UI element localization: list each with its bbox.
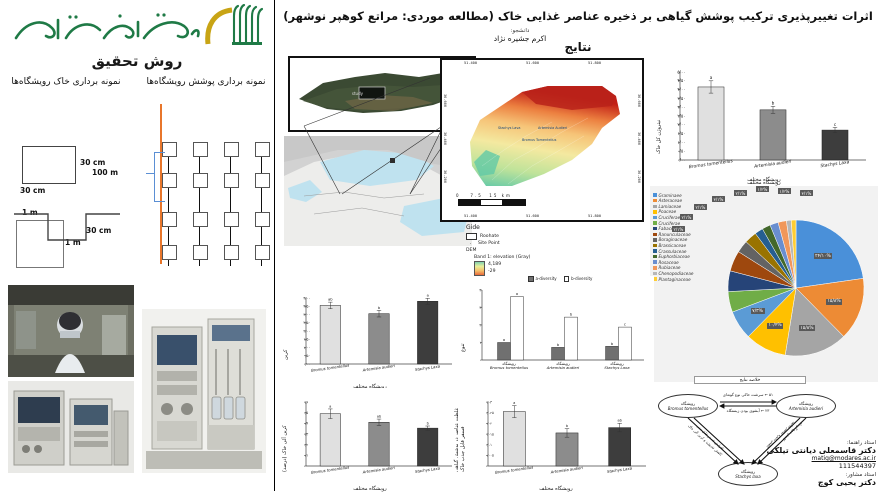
heading-cover-sampling: نمونه برداری پوشش رویشگاه‌ها <box>146 76 266 89</box>
svg-text:۴: ۴ <box>479 288 481 292</box>
consultant-name: دکتر یحیی کوچ <box>736 478 876 487</box>
pie-legend-label: Asteraceae <box>659 198 683 203</box>
titration-instrument-photo <box>142 309 266 473</box>
organic-matter-y-axis-title: کربن آلی خاک (درصد) <box>282 425 288 472</box>
dem-x-tick-b2: 51-800 <box>588 214 601 218</box>
svg-text:۲: ۲ <box>479 323 481 327</box>
pie-legend-label: Cruciferae <box>659 215 681 220</box>
svg-text:۳: ۳ <box>479 306 481 310</box>
pie-slice-value-callout: ۲/۱% <box>672 226 685 232</box>
dem-x-tick-b1: 51-600 <box>526 214 539 218</box>
svg-text:b: b <box>427 421 429 425</box>
pie-legend-label: Boraginaceae <box>659 237 688 242</box>
svg-text:۰/۰۰: ۰/۰۰ <box>677 157 685 162</box>
laboratory-photos <box>0 285 274 485</box>
venn-edge-top-1: ۲۳ ← آبشوی بودن زیستگاه <box>714 408 782 413</box>
pie-slice-value-inside: ۱۵/۸% <box>826 299 842 305</box>
pie-slice-value-inside: ۱۵/۸% <box>799 325 815 331</box>
pie-legend-swatch-icon <box>653 260 657 264</box>
pie-legend-item: Lamiaceae <box>653 204 719 209</box>
diversity-grouped-bar-chart: ۰۱۲۳۴aaرویشگاهBromus tomentellusbbرویشگا… <box>458 276 654 388</box>
svg-text:۰/۵۰: ۰/۵۰ <box>677 149 685 154</box>
svg-text:۳/۵۰: ۳/۵۰ <box>677 96 685 101</box>
pie-legend-swatch-icon <box>653 216 657 220</box>
svg-text:۰/۰۳: ۰/۰۳ <box>485 400 492 404</box>
pie-legend-swatch-icon <box>653 255 657 259</box>
diversity-legend-item: b-diversity <box>564 276 593 282</box>
pie-legend-swatch-icon <box>653 221 657 225</box>
svg-text:۱/۵۰: ۱/۵۰ <box>303 338 310 342</box>
university-emblem-icon <box>204 4 266 48</box>
pie-legend-item: Boraginaceae <box>653 237 719 242</box>
pie-legend-item: Cruciferae <box>653 221 719 226</box>
advisor-phone: 111544397 <box>736 462 876 470</box>
svg-text:۱: ۱ <box>479 341 481 345</box>
left-methodology-column: روش تحقیق نمونه برداری پوشش رویشگاه‌ها ن… <box>0 0 274 491</box>
legend-elevation-ramp: 4,189 -29 <box>474 261 586 276</box>
svg-text:۳/۵۰: ۳/۵۰ <box>303 305 310 309</box>
soil-square-side-label: 30 cm <box>80 158 105 167</box>
svg-text:۰: ۰ <box>303 464 305 468</box>
legend-label: b-diversity <box>571 276 592 281</box>
svg-text:۰/۰۱۵: ۰/۰۱۵ <box>485 432 494 436</box>
carbon-y-axis-title: کربن <box>283 350 289 360</box>
heading-soil-sampling: نمونه برداری خاک رویشگاه‌ها <box>8 76 124 89</box>
svg-text:c: c <box>834 122 837 127</box>
organic-matter-bar-chart: ۰۰/۱۰/۲۰/۳۰/۴۰/۵۰/۶aBromus tomentellusab… <box>280 388 460 488</box>
svg-text:ab: ab <box>618 419 622 423</box>
legend-value-max: 4,189 <box>488 262 501 267</box>
organic-matter-x-axis-title: رویشگاه مختلف <box>280 486 460 492</box>
pie-legend-item: Graminaee <box>653 193 719 198</box>
pie-legend-swatch-icon <box>653 272 657 276</box>
distance-arrow <box>146 173 155 174</box>
legend-label-site-point: Site Point <box>478 241 500 246</box>
pie-legend-swatch-icon <box>653 244 657 248</box>
svg-text:۱/۰۰: ۱/۰۰ <box>677 140 685 145</box>
pie-legend-label: Rosaceae <box>659 260 679 265</box>
dem-y-tick-1: 36-400 <box>443 132 447 145</box>
phosphorus-x-axis-title: رویشگاه مختلف <box>458 486 654 492</box>
soil-square-outline <box>22 146 76 184</box>
map-legend-title: Gide <box>466 224 586 231</box>
pie-legend-item: Brassicaceae <box>653 243 719 248</box>
diversity-legend: a-diversityb-diversity <box>528 276 592 282</box>
svg-text:a: a <box>329 404 331 408</box>
venn-edge-left-0: کاهش نیتروژن و کربن آلی خاک <box>687 424 723 457</box>
soil-sampling-diagram: 30 cm 30 cm 30 cm <box>6 142 146 262</box>
dem-y-tick-0: 36-600 <box>443 94 447 107</box>
svg-text:۳/۰۰: ۳/۰۰ <box>303 313 310 317</box>
pie-legend-item: Ranunculaceae <box>653 232 719 237</box>
svg-text:Stachys Laxa: Stachys Laxa <box>604 365 630 370</box>
svg-text:Stachys Laxa: Stachys Laxa <box>820 159 850 169</box>
svg-text:b: b <box>566 424 568 428</box>
pie-legend-swatch-icon <box>653 249 657 253</box>
pie-legend-label: Graminaee <box>659 193 682 198</box>
svg-text:۰/۰۰۵: ۰/۰۰۵ <box>485 454 494 458</box>
summary-caption: خلاصه نتایج <box>694 376 806 384</box>
pie-legend-swatch-icon <box>653 210 657 214</box>
legend-value-min: -29 <box>488 269 496 274</box>
dem-site-label-1: Artemisia Audieri <box>538 126 567 130</box>
distance-brace <box>154 152 165 202</box>
pie-legend-swatch-icon <box>653 205 657 209</box>
dem-x-tick-2: 51-800 <box>588 61 601 65</box>
dem-elevation-map: 51-400 51-600 51-800 51-400 51-600 51-80… <box>440 58 644 222</box>
point-marker-icon: · <box>466 241 475 246</box>
pie-legend-swatch-icon <box>653 199 657 203</box>
soil-pit-depth-label: 30 cm <box>86 226 111 235</box>
svg-text:۳/۰۰: ۳/۰۰ <box>677 105 685 110</box>
plant-family-pie-chart: رویشگاه مختلف GraminaeeAsteraceaeLamiace… <box>650 186 878 382</box>
dem-x-tick-b0: 51-400 <box>464 214 477 218</box>
pie-legend-label: Cruciferae <box>659 221 681 226</box>
svg-text:۱/۵۰: ۱/۵۰ <box>677 131 685 136</box>
diversity-y-axis-title: تنوع <box>460 344 466 352</box>
pie-legend-item: Plantaginaceae <box>653 277 719 282</box>
pie-legend-swatch-icon <box>653 238 657 242</box>
lab-fume-hood-photo <box>8 285 134 377</box>
dem-scale-bar <box>458 199 524 204</box>
svg-text:b: b <box>772 101 775 106</box>
venn-node-1-sci: Artemisia audieri <box>789 406 823 411</box>
svg-text:۰/۳: ۰/۳ <box>303 432 308 436</box>
pie-legend-item: Crassulaceae <box>653 249 719 254</box>
svg-text:۰/۵: ۰/۵ <box>303 411 308 415</box>
venn-node-0-sci: Bromus tomentellus <box>668 406 708 411</box>
nitrogen-bar-chart: ۰/۰۰۰/۵۰۱/۰۰۱/۵۰۲/۰۰۲/۵۰۳/۰۰۳/۵۰۴/۰۰۴/۵۰… <box>650 52 878 184</box>
svg-text:۵/۰۰: ۵/۰۰ <box>677 69 685 74</box>
svg-text:۰: ۰ <box>485 464 487 468</box>
svg-text:۴/۰۰: ۴/۰۰ <box>303 296 310 300</box>
svg-text:a: a <box>710 75 713 80</box>
pie-legend-label: Lamiaceae <box>659 204 682 209</box>
svg-text:a: a <box>503 338 505 342</box>
pie-slice-value-callout: ۱/۲% <box>756 186 769 192</box>
pie-legend-swatch-icon <box>653 193 657 197</box>
pie-slice-value-inside: ۱۰/۴% <box>767 323 783 329</box>
svg-text:۴/۵۰: ۴/۵۰ <box>677 78 685 83</box>
pie-chart-title: رویشگاه مختلف <box>650 177 878 183</box>
dem-scale-text: 0 7.5 15 km <box>456 193 512 198</box>
advisor-name: دکتر قاسمعلی دیانتی تیلکی <box>736 446 876 455</box>
pie-slice-value-callout: ۳/۱% <box>712 196 725 202</box>
legend-label: a-diversity <box>536 276 557 281</box>
dem-y-tick-r2: 36-200 <box>637 170 641 183</box>
pie-legend-item: Rubiaceae <box>653 265 719 270</box>
svg-text:۲/۵۰: ۲/۵۰ <box>677 113 685 118</box>
method-headings: نمونه برداری پوشش رویشگاه‌ها نمونه بردار… <box>0 76 274 110</box>
legend-swatch-icon <box>528 276 534 282</box>
diversity-legend-item: a-diversity <box>528 276 557 282</box>
svg-text:۱/۰۰: ۱/۰۰ <box>303 346 310 350</box>
svg-text:a: a <box>516 292 518 296</box>
pie-slice-value-callout: ۲/۱% <box>734 190 747 196</box>
svg-text:Stachys Laxa: Stachys Laxa <box>415 363 441 372</box>
svg-text:study: study <box>352 91 364 96</box>
dem-x-tick-0: 51-400 <box>464 61 477 65</box>
poster-root: روش تحقیق نمونه برداری پوشش رویشگاه‌ها ن… <box>0 0 880 491</box>
column-divider <box>274 0 275 491</box>
dem-site-label-0: Stachys Lava <box>498 126 520 130</box>
study-area-maps: study <box>280 56 652 278</box>
venn-edge-top-0: ۵۱ ← سرشت خاکی نوع گونه‌ای <box>714 392 782 397</box>
university-logo-row <box>0 4 274 50</box>
university-name-calligraphy <box>8 8 204 48</box>
legend-item-roohate: Roohate <box>466 233 586 240</box>
svg-text:b: b <box>378 306 381 310</box>
legend-dem-label: DEM <box>466 248 586 253</box>
legend-ramp-values: 4,189 -29 <box>488 261 501 275</box>
svg-text:Stachys Laxa: Stachys Laxa <box>607 465 633 474</box>
svg-text:۰/۰۰: ۰/۰۰ <box>303 362 310 366</box>
pie-slice-value-inside: ۲۴/۱۰% <box>814 253 833 259</box>
dem-y-tick-r1: 36-400 <box>637 132 641 145</box>
pie-legend-item: Chenopodiaceae <box>653 271 719 276</box>
pie-legend-label: Plantaginaceae <box>659 277 691 282</box>
dem-y-tick-r0: 36-600 <box>637 94 641 107</box>
pie-slice-value-callout: ۲/۱% <box>694 204 707 210</box>
dem-y-tick-2: 36-200 <box>443 170 447 183</box>
dem-x-tick-1: 51-600 <box>526 61 539 65</box>
pie-legend: GraminaeeAsteraceaeLamiaceaePoaceaeCruci… <box>653 192 719 282</box>
svg-text:۴/۰۰: ۴/۰۰ <box>677 87 685 92</box>
pie-svg <box>720 196 872 372</box>
svg-text:۰/۴: ۰/۴ <box>303 422 308 426</box>
venn-node-bromus: رویشگاه Bromus tomentellus <box>658 394 718 418</box>
legend-label-roohate: Roohate <box>480 234 499 239</box>
svg-text:c: c <box>624 323 626 327</box>
page-title: اثرات تغییرپذیری ترکیب پوشش گیاهی بر ذخی… <box>276 8 880 24</box>
pie-slice-value-inside: ۷/۳% <box>751 308 765 314</box>
svg-text:ab: ab <box>377 414 381 418</box>
svg-text:۰/۶: ۰/۶ <box>303 400 308 404</box>
pie-legend-label: Rubiaceae <box>659 265 681 270</box>
supervisor-info: استاد راهنما: دکتر قاسمعلی دیانتی تیلکی … <box>736 440 876 487</box>
pie-legend-swatch-icon <box>653 233 657 237</box>
svg-text:a: a <box>427 294 429 298</box>
svg-text:۲/۰۰: ۲/۰۰ <box>677 122 685 127</box>
phosphorus-y-axis-title: فسفر قابل جذب خاک <box>460 426 466 472</box>
pie-slice-value-callout: ۳/۱% <box>800 190 813 196</box>
svg-text:۰/۰۲: ۰/۰۲ <box>485 422 492 426</box>
svg-text:Artemisia audieri: Artemisia audieri <box>546 365 580 370</box>
pie-legend-label: Brassicaceae <box>659 243 687 248</box>
svg-text:۰/۵۰: ۰/۵۰ <box>303 354 310 358</box>
svg-text:b: b <box>611 342 614 346</box>
outline-swatch-icon <box>466 233 477 240</box>
carbon-bar-chart: ۰/۰۰۰/۵۰۱/۰۰۱/۵۰۲/۰۰۲/۵۰۳/۰۰۳/۵۰۴/۰۰abBr… <box>280 282 460 386</box>
map-legend: Gide Roohate · Site Point DEM Band 1: el… <box>466 224 586 276</box>
phosphorus-bar-chart: ۰۰/۰۰۵۰/۰۱۰/۰۱۵۰/۰۲۰/۰۲۵۰/۰۳aBromus tome… <box>458 388 654 488</box>
pie-legend-label: Poaceae <box>659 209 677 214</box>
pie-legend-label: Ranunculaceae <box>659 232 691 237</box>
pie-legend-item: Rosaceae <box>653 260 719 265</box>
svg-text:۲/۵۰: ۲/۵۰ <box>303 321 310 325</box>
pie-legend-item: Fabaceae <box>653 226 719 231</box>
legend-swatch-icon <box>564 276 570 282</box>
svg-text:Bromus tomentellus: Bromus tomentellus <box>490 365 528 370</box>
svg-text:b: b <box>570 313 573 317</box>
legend-band-label: Band 1: elevation (Gray) <box>474 255 586 260</box>
svg-text:b: b <box>557 343 560 347</box>
svg-text:Stachys Laxa: Stachys Laxa <box>415 465 441 474</box>
svg-text:a: a <box>513 401 515 405</box>
advisor-email[interactable]: matig@modares.ac.ir <box>736 455 876 462</box>
pie-slice-value-callout: ۲/۱% <box>680 214 693 220</box>
svg-text:۰/۰۱: ۰/۰۱ <box>485 443 492 447</box>
right-results-column: اثرات تغییرپذیری ترکیب پوشش گیاهی بر ذخی… <box>276 0 880 491</box>
svg-text:۰/۲: ۰/۲ <box>303 443 308 447</box>
elevation-color-ramp-icon <box>474 261 485 276</box>
svg-text:۰/۰۲۵: ۰/۰۲۵ <box>485 411 494 415</box>
legend-item-site-point: · Site Point <box>466 241 586 246</box>
svg-text:ab: ab <box>328 298 333 302</box>
pie-legend-swatch-icon <box>653 227 657 231</box>
nitrogen-y-axis-title: نیتروژن کل خاک <box>656 120 662 154</box>
svg-text:۰: ۰ <box>479 358 481 362</box>
pie-legend-label: Crassulaceae <box>659 249 687 254</box>
analyzer-instrument-photo <box>8 381 134 473</box>
svg-text:۲/۰۰: ۲/۰۰ <box>303 329 310 333</box>
pie-legend-item: Euphorbiaceae <box>653 254 719 259</box>
pie-legend-label: Euphorbiaceae <box>659 254 690 259</box>
venn-node-artemisia: رویشگاه Artemisia audieri <box>776 394 836 418</box>
dem-site-label-2: Bromus Tomentellus <box>522 138 556 142</box>
pie-legend-label: Chenopodiaceae <box>659 271 694 276</box>
pie-legend-item: Asteraceae <box>653 198 719 203</box>
soil-square-bottom-label: 30 cm <box>20 186 45 195</box>
svg-text:۰/۱: ۰/۱ <box>303 454 308 458</box>
pie-slice-value-callout: ۱/۲% <box>778 188 791 194</box>
methodology-title: روش تحقیق <box>0 52 274 70</box>
pie-legend-swatch-icon <box>653 266 657 270</box>
